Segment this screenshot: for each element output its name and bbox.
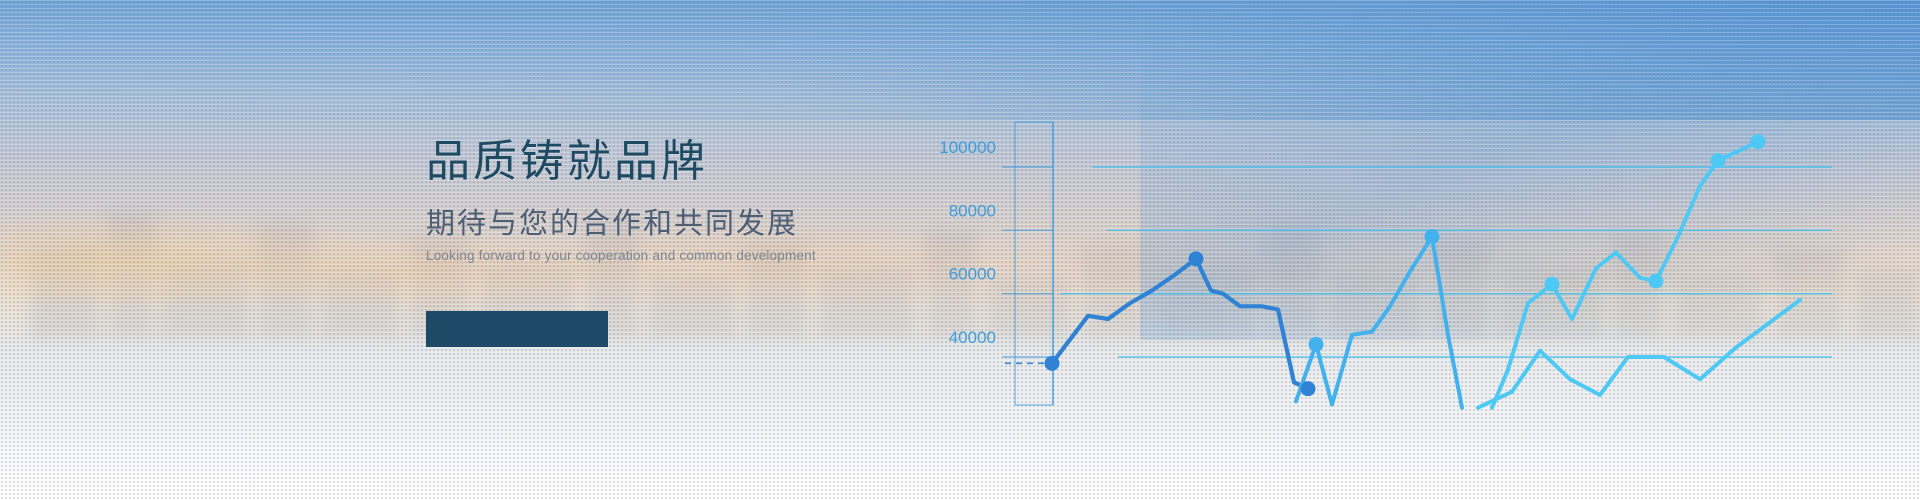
data-point-marker: [1545, 277, 1560, 292]
page-title: 品质铸就品牌: [426, 140, 946, 184]
chart-series-group: [1052, 142, 1800, 408]
data-point-marker: [1301, 381, 1316, 396]
data-point-marker: [1649, 274, 1664, 289]
y-axis-label-60000: 60000: [949, 265, 996, 284]
y-axis-label-40000: 40000: [949, 328, 996, 347]
series-line-series-2-mid-blue: [1296, 237, 1462, 408]
line-chart: 400006000080000100000: [0, 0, 1920, 500]
chart-y-axis-labels: 400006000080000100000: [939, 138, 996, 347]
hero-copy: 品质铸就品牌 期待与您的合作和共同发展 Looking forward to y…: [426, 140, 946, 263]
hero-subtitle-en: Looking forward to your cooperation and …: [426, 249, 946, 263]
cta-button[interactable]: [426, 311, 608, 347]
data-point-marker: [1189, 251, 1204, 266]
series-line-series-4-light-lower: [1478, 300, 1800, 408]
series-line-series-3-light-upper: [1492, 142, 1758, 408]
y-axis-label-100000: 100000: [939, 138, 996, 157]
data-point-marker: [1045, 356, 1060, 371]
chart-y-axis-ticks: [1002, 167, 1053, 357]
data-point-marker: [1751, 134, 1766, 149]
hero-subtitle-cn: 期待与您的合作和共同发展: [426, 210, 946, 239]
data-point-marker: [1711, 153, 1726, 168]
hero-banner: 400006000080000100000 品质铸就品牌 期待与您的合作和共同发…: [0, 0, 1920, 500]
data-point-marker: [1425, 229, 1440, 244]
series-line-series-1-dark-blue: [1052, 259, 1308, 389]
data-point-marker: [1309, 337, 1324, 352]
y-axis-label-80000: 80000: [949, 201, 996, 220]
